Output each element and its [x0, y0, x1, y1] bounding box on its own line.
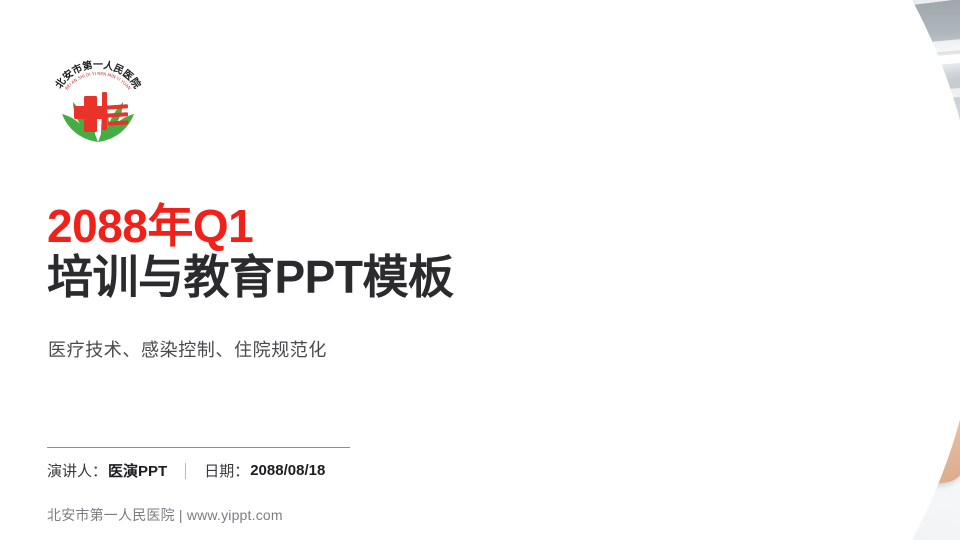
- hospital-logo: 北安市第一人民医院 BEI AN SHI DI YI REN MIN YI YU…: [46, 58, 150, 146]
- footer-text: 北安市第一人民医院 | www.yippt.com: [47, 505, 283, 525]
- presentation-title-slide: 北安市第一人民医院 BEI AN SHI DI YI REN MIN YI YU…: [0, 0, 960, 540]
- meta-separator: [185, 463, 186, 479]
- title-line-1: 2088年Q1: [47, 200, 567, 252]
- subtitle: 医疗技术、感染控制、住院规范化: [48, 336, 327, 362]
- content-panel: 北安市第一人民医院 BEI AN SHI DI YI REN MIN YI YU…: [0, 0, 440, 540]
- title-line-2: 培训与教育PPT模板: [47, 250, 567, 304]
- page-title: 2088年Q1 培训与教育PPT模板: [47, 200, 567, 304]
- presenter-meta: 演讲人： 医演PPT 日期： 2088/08/18: [47, 460, 325, 481]
- divider-line: [47, 447, 350, 448]
- date-label: 日期：: [204, 460, 249, 481]
- date-value: 2088/08/18: [250, 462, 325, 479]
- speaker-value: 医演PPT: [108, 460, 167, 481]
- speaker-label: 演讲人：: [47, 460, 107, 481]
